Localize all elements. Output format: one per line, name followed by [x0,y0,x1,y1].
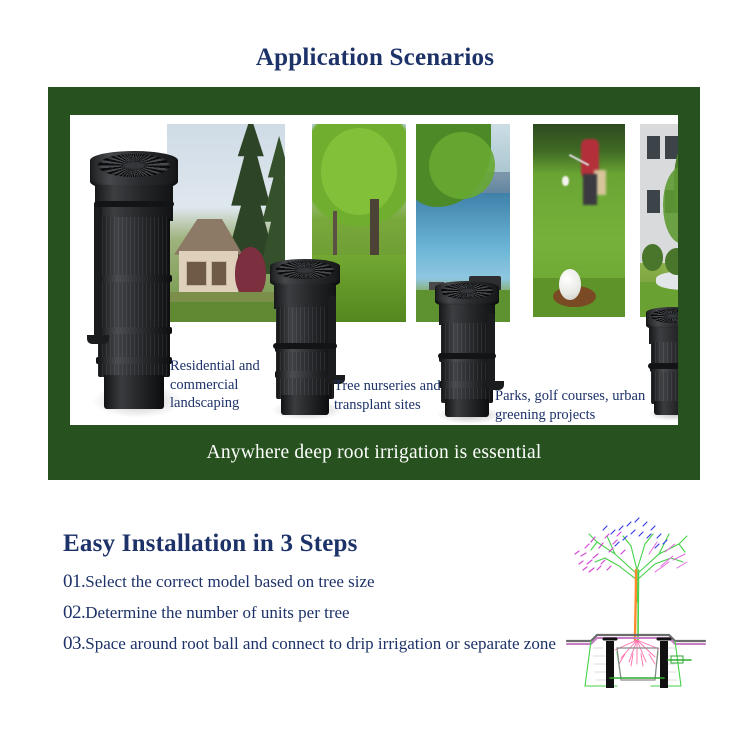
golfer-figure [583,174,598,205]
house-window [211,261,228,287]
tree-root-ball-irrigation-diagram [545,508,730,690]
install-heading: Easy Installation in 3 Steps [63,530,583,558]
product-collar [94,201,175,207]
diagram-svg [545,508,730,690]
golf-ball [559,269,581,300]
product-ring [96,327,172,334]
product-body [98,217,170,377]
lawn [167,302,285,322]
building-window [665,136,678,159]
step-number: 01. [63,567,85,598]
product-collar [648,363,678,369]
page-root: Application Scenarios [0,0,750,750]
scenario-photo-area: Residential and commercial landscaping T… [70,115,678,425]
caption-parks: Parks, golf courses, urban greening proj… [495,387,671,424]
product-medium-deep-root-tube [270,259,340,417]
caption-residential: Residential and commercial landscaping [170,357,276,413]
distant-golf-ball [562,176,568,186]
irrigation-tube-left [606,641,614,688]
irrigation-tube-right [660,641,668,688]
product-side-hook [94,201,102,343]
product-hook-foot [87,335,109,344]
product-collar [438,353,497,359]
product-tip [104,375,164,409]
house-window [186,261,207,287]
blossom-cluster-magenta [575,532,625,572]
product-ring [96,275,172,282]
install-section: Easy Installation in 3 Steps 01. Select … [63,530,583,659]
step-text: Space around root ball and connect to dr… [85,630,583,658]
tree-canopy [429,132,495,199]
scenario-banner: Anywhere deep root irrigation is essenti… [48,425,700,480]
tree-trunk [635,570,636,640]
grate-icon [98,154,170,177]
building-window [647,190,660,213]
install-step: 02. Determine the number of units per tr… [63,598,583,629]
product-collar [273,343,337,349]
product-body [276,307,333,399]
trunk-outline [638,570,639,640]
step-text: Determine the number of units per tree [85,599,583,627]
grate-icon [441,283,493,299]
page-title: Application Scenarios [0,44,750,72]
product-large-deep-root-tube [90,151,178,413]
step-text: Select the correct model based on tree s… [85,568,583,596]
product-ring [96,357,172,364]
product-side-hook [328,295,336,383]
product-tip [445,399,489,417]
photo-golf-course-green [532,123,626,318]
grate-icon [651,309,678,323]
photo-urban-landscaping [639,123,678,318]
tree-canopy [321,128,396,215]
step-number: 02. [63,598,85,629]
install-step: 03. Space around root ball and connect t… [63,629,583,660]
shrub [665,248,678,275]
install-step: 01. Select the correct model based on tr… [63,567,583,598]
photo-residential-house-with-conifers [166,123,286,323]
root-system [615,640,659,666]
blossom-cluster-blue [603,518,667,548]
root-ball [617,648,658,680]
building-window [647,136,660,159]
scenario-panel: Residential and commercial landscaping T… [48,87,700,480]
caption-nursery: Tree nurseries and transplant sites [334,377,450,414]
step-number: 03. [63,629,85,660]
product-side-hook [487,313,495,389]
grate-icon [276,261,333,278]
product-neck [274,285,336,309]
product-cap [435,281,499,308]
red-maple-shrub [235,247,266,298]
shrub [642,244,664,271]
product-tip [281,395,329,415]
